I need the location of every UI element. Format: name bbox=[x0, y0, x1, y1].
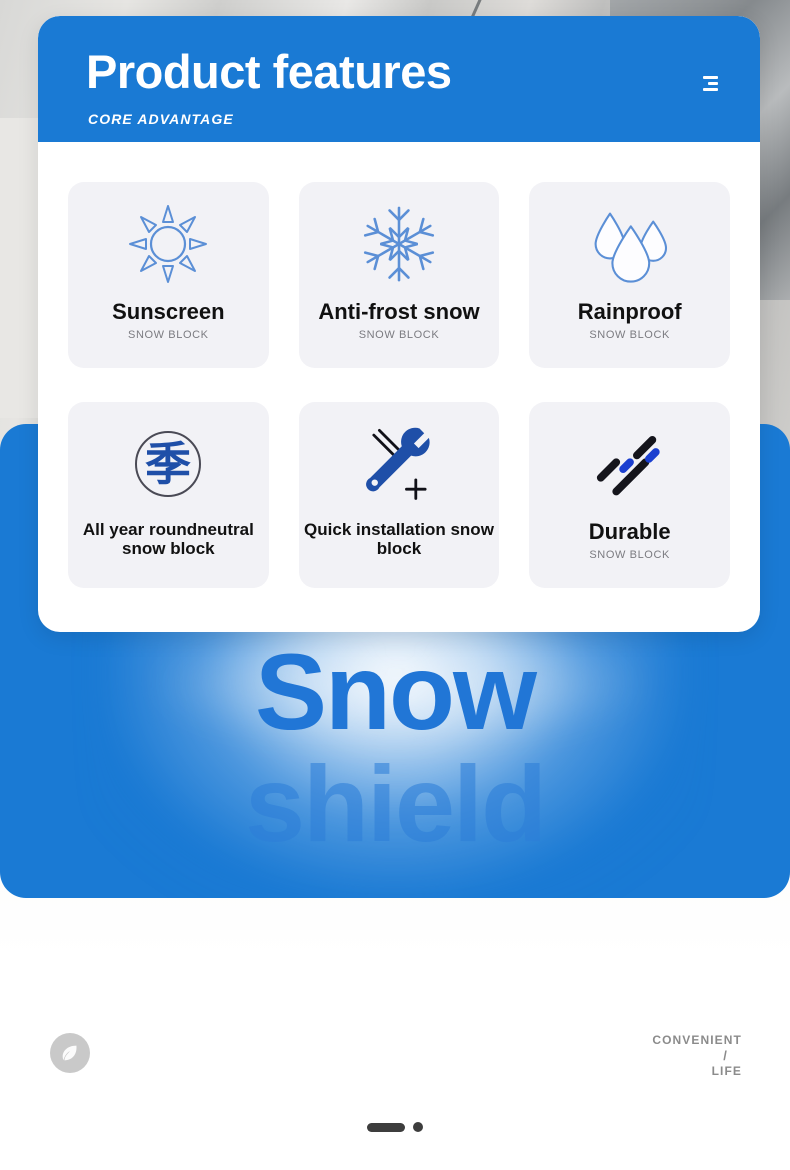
feature-title: Quick installation snow block bbox=[304, 520, 494, 558]
feature-title: Anti-frost snow bbox=[318, 300, 479, 325]
feature-tile-anti-frost-snow[interactable]: Anti-frost snow SNOW BLOCK bbox=[299, 182, 500, 368]
product-features-card: Product features CORE ADVANTAGE bbox=[38, 16, 760, 632]
menu-line-top bbox=[703, 76, 718, 79]
feature-title: All year roundneutral snow block bbox=[73, 520, 263, 558]
page-title: Product features bbox=[86, 48, 451, 95]
brand-line-1: CONVENIENT bbox=[652, 1033, 742, 1047]
brand-slash: / bbox=[652, 1048, 742, 1064]
feature-grid: Sunscreen SNOW BLOCK bbox=[38, 142, 760, 632]
hamburger-menu-icon[interactable] bbox=[698, 76, 718, 91]
page-subtitle: CORE ADVANTAGE bbox=[88, 111, 234, 127]
wrench-screwdriver-icon bbox=[357, 408, 441, 520]
svg-text:季: 季 bbox=[145, 437, 191, 491]
sun-icon bbox=[126, 188, 210, 300]
feature-tile-sunscreen[interactable]: Sunscreen SNOW BLOCK bbox=[68, 182, 269, 368]
feature-subtitle: SNOW BLOCK bbox=[589, 329, 670, 341]
snowflake-icon bbox=[356, 188, 442, 300]
brand-tagline: CONVENIENT / LIFE bbox=[652, 1033, 742, 1079]
feature-subtitle: SNOW BLOCK bbox=[589, 549, 670, 561]
hero-headline-line1: Snow bbox=[0, 638, 790, 746]
feature-tile-all-year-round[interactable]: 季 All year roundneutral snow block bbox=[68, 402, 269, 588]
feature-title: Sunscreen bbox=[112, 300, 225, 325]
durable-dashes-icon bbox=[587, 408, 673, 520]
four-seasons-icon: 季 bbox=[128, 408, 208, 520]
feature-title: Durable bbox=[589, 520, 671, 545]
feature-title: Rainproof bbox=[578, 300, 682, 325]
hero-headline-line2: shield bbox=[0, 750, 790, 858]
feature-tile-durable[interactable]: Durable SNOW BLOCK bbox=[529, 402, 730, 588]
feature-subtitle: SNOW BLOCK bbox=[128, 329, 209, 341]
water-drops-icon bbox=[586, 188, 674, 300]
menu-line-bottom bbox=[703, 88, 718, 91]
page-indicator[interactable] bbox=[367, 1122, 423, 1132]
menu-line-middle bbox=[708, 82, 718, 85]
feature-subtitle: SNOW BLOCK bbox=[359, 329, 440, 341]
page-indicator-active[interactable] bbox=[367, 1123, 405, 1132]
feature-tile-quick-installation[interactable]: Quick installation snow block bbox=[299, 402, 500, 588]
brand-line-2: LIFE bbox=[712, 1064, 742, 1078]
page-root: Snow shield Product features CORE ADVANT… bbox=[0, 0, 790, 1170]
feature-tile-rainproof[interactable]: Rainproof SNOW BLOCK bbox=[529, 182, 730, 368]
leaf-icon[interactable] bbox=[50, 1033, 90, 1073]
page-indicator-dot[interactable] bbox=[413, 1122, 423, 1132]
card-header: Product features CORE ADVANTAGE bbox=[38, 16, 760, 142]
background-left-strip bbox=[0, 118, 40, 418]
